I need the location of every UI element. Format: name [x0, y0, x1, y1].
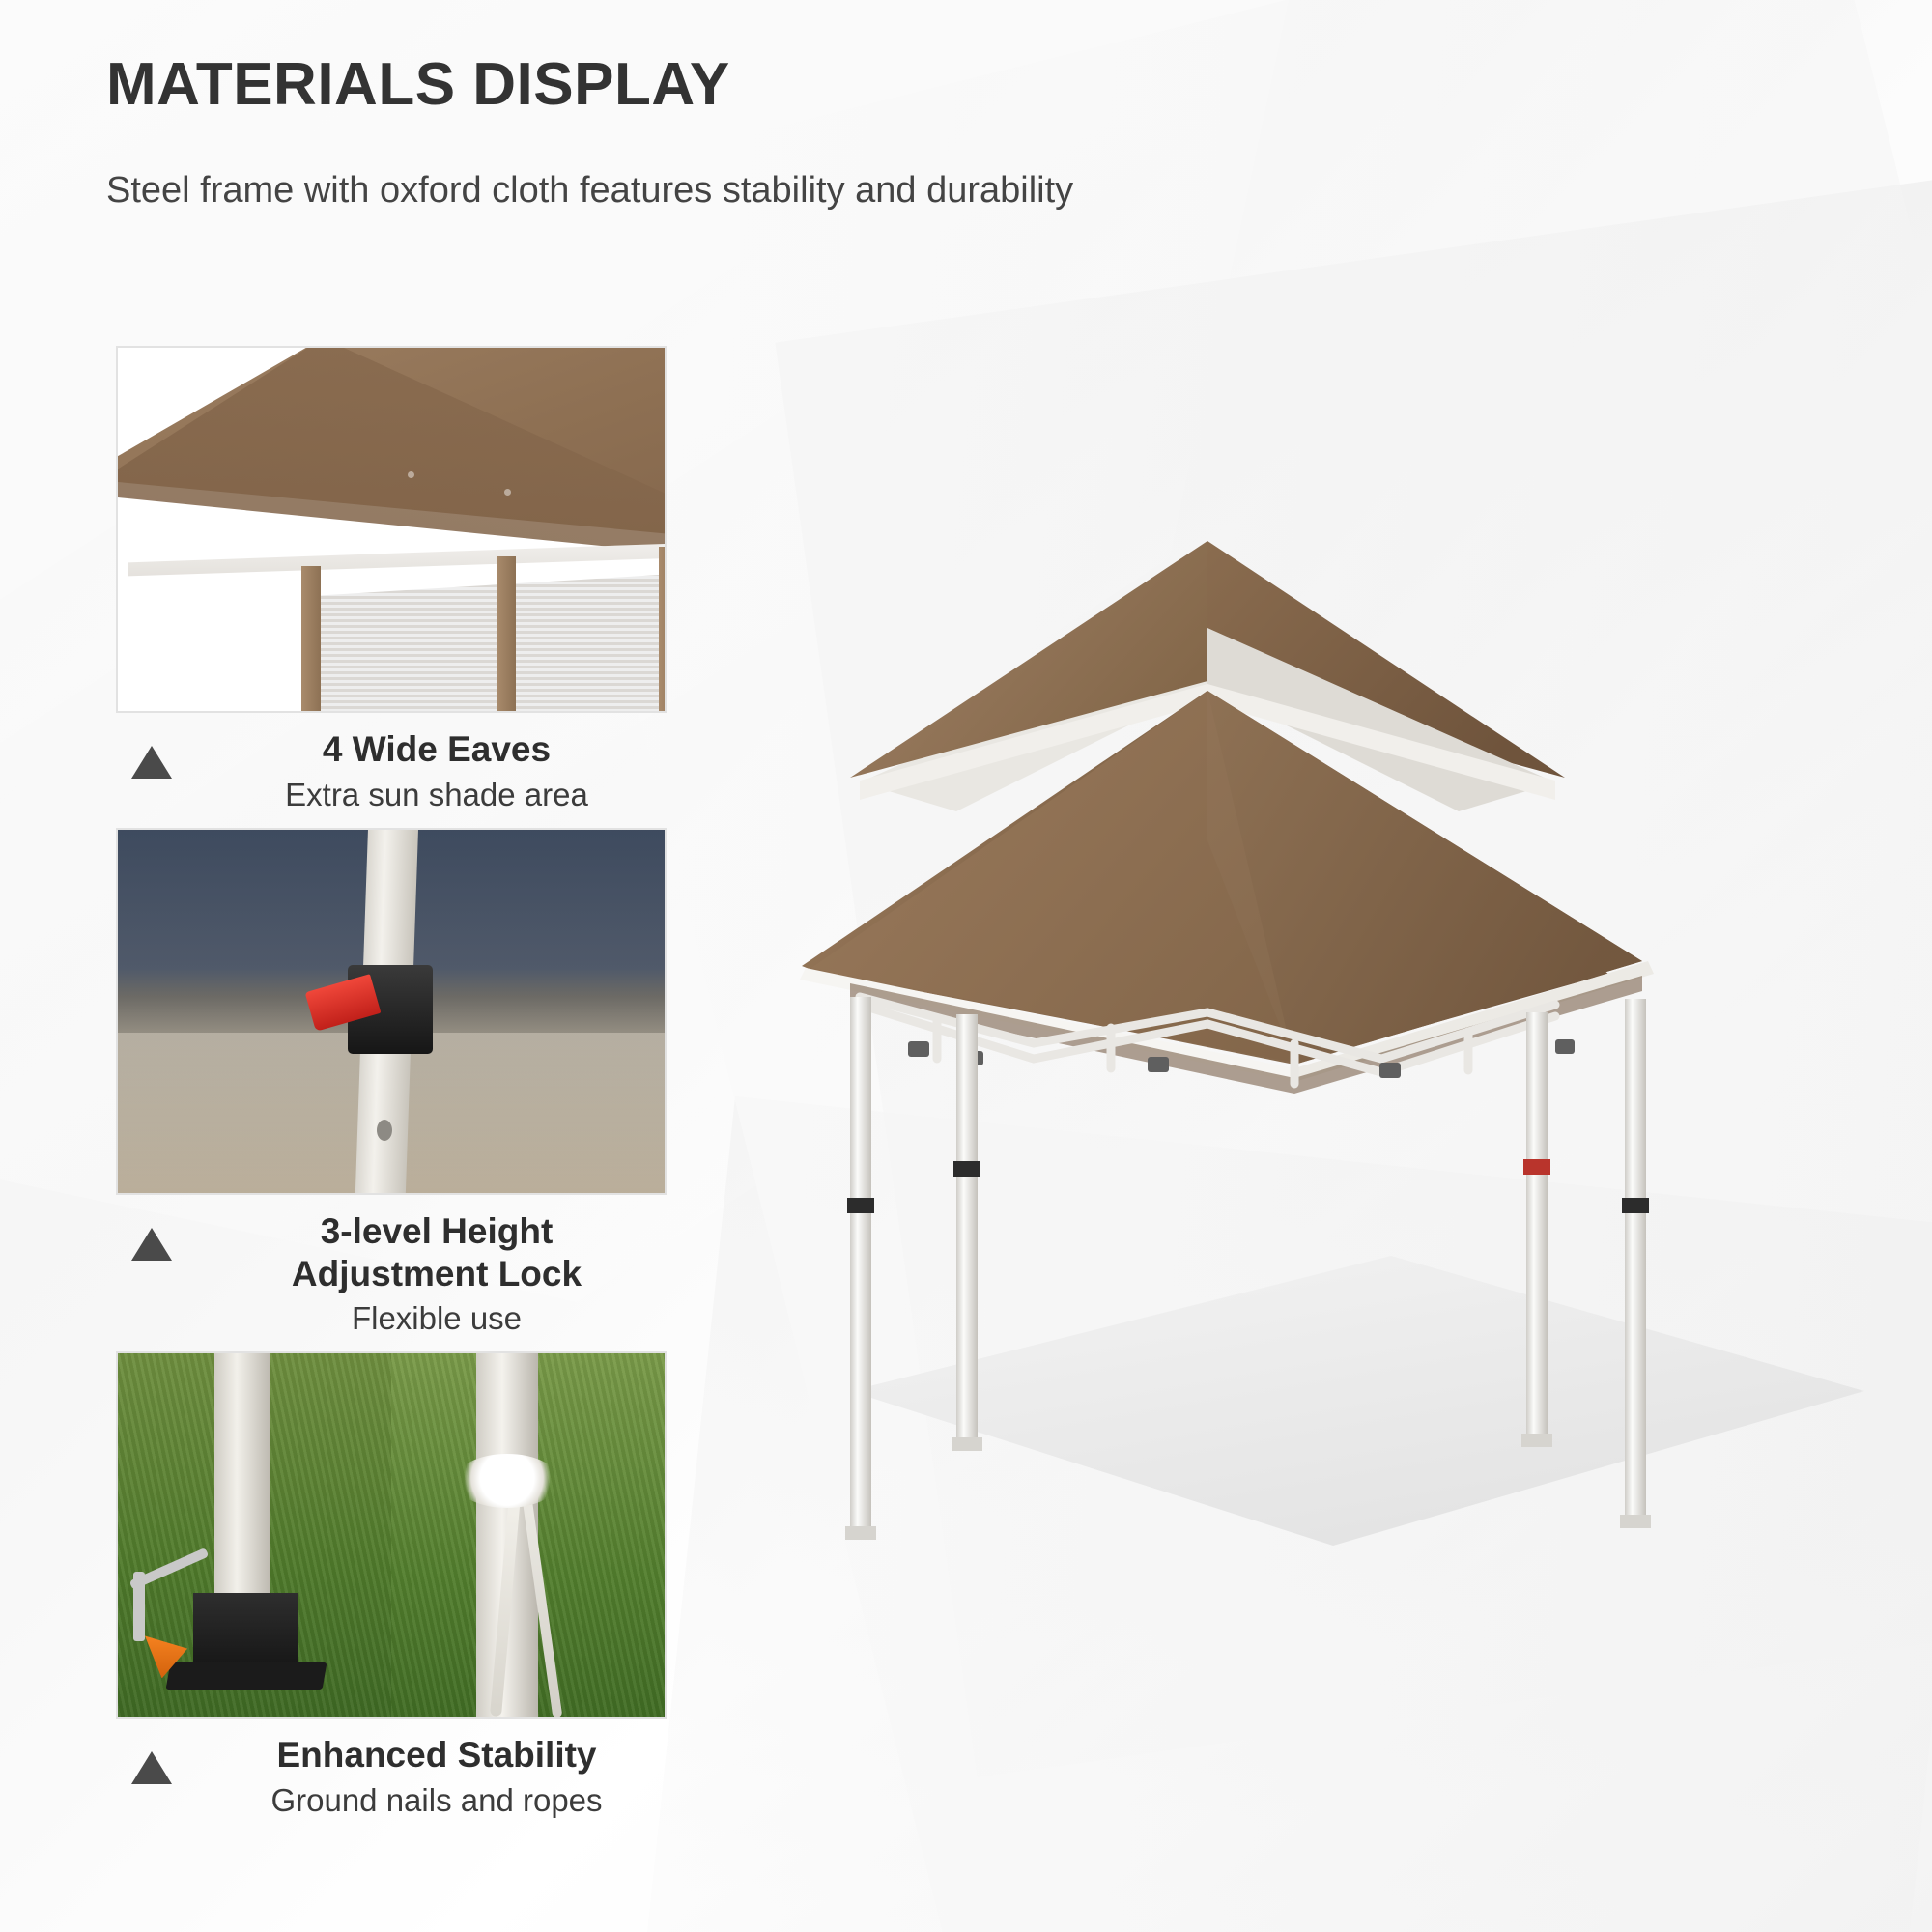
feature-height-adjustment-lock: 3-level Height Adjustment Lock Flexible … [116, 828, 676, 1339]
feature-wide-eaves: 4 Wide Eaves Extra sun shade area [116, 346, 676, 814]
feature-image-stability [116, 1351, 667, 1719]
stability-base-plate [166, 1662, 327, 1690]
feature-caption-wide-eaves: 4 Wide Eaves Extra sun shade area [116, 713, 676, 814]
caption-text-group: Enhanced Stability Ground nails and rope… [172, 1734, 676, 1820]
feature-caption-height-lock: 3-level Height Adjustment Lock Flexible … [116, 1195, 676, 1339]
feature-caption-stability: Enhanced Stability Ground nails and rope… [116, 1719, 676, 1820]
leg-front-left [845, 997, 876, 1540]
feature-subtitle: Extra sun shade area [197, 771, 676, 814]
materials-display-infographic: MATERIALS DISPLAY Steel frame with oxfor… [0, 0, 1932, 1932]
stability-photo-left [118, 1353, 391, 1717]
feature-title: 4 Wide Eaves [197, 728, 676, 771]
ground-plane [850, 1256, 1864, 1546]
triangle-marker-icon [131, 746, 172, 779]
eaves-fabric-dot [408, 471, 414, 478]
product-hero-image [792, 522, 1874, 1604]
feature-image-height-lock [116, 828, 667, 1195]
feature-subtitle: Flexible use [197, 1294, 676, 1338]
page-subtitle: Steel frame with oxford cloth features s… [106, 116, 1073, 212]
feature-title: Enhanced Stability [197, 1734, 676, 1776]
caption-text-group: 4 Wide Eaves Extra sun shade area [172, 728, 676, 814]
stability-photo-right [391, 1353, 665, 1717]
eaves-post-left [301, 566, 321, 713]
caption-text-group: 3-level Height Adjustment Lock Flexible … [172, 1210, 676, 1339]
triangle-marker-icon [131, 1751, 172, 1784]
feature-title-line-1: 3-level Height [197, 1210, 676, 1253]
eaves-post-right [659, 547, 667, 711]
feature-list: 4 Wide Eaves Extra sun shade area 3-leve… [116, 346, 676, 1833]
header: MATERIALS DISPLAY Steel frame with oxfor… [106, 53, 1073, 212]
triangle-marker-icon [131, 1228, 172, 1261]
feature-subtitle: Ground nails and ropes [197, 1776, 676, 1820]
lock-adjustment-hole [377, 1120, 392, 1141]
ground-stake-shaft [133, 1572, 145, 1641]
feature-enhanced-stability: Enhanced Stability Ground nails and rope… [116, 1351, 676, 1820]
eaves-post-mid [497, 556, 516, 713]
feature-title-line-2: Adjustment Lock [197, 1253, 676, 1295]
eaves-fabric-dot [504, 489, 511, 496]
page-title: MATERIALS DISPLAY [106, 53, 1073, 116]
feature-image-wide-eaves [116, 346, 667, 713]
